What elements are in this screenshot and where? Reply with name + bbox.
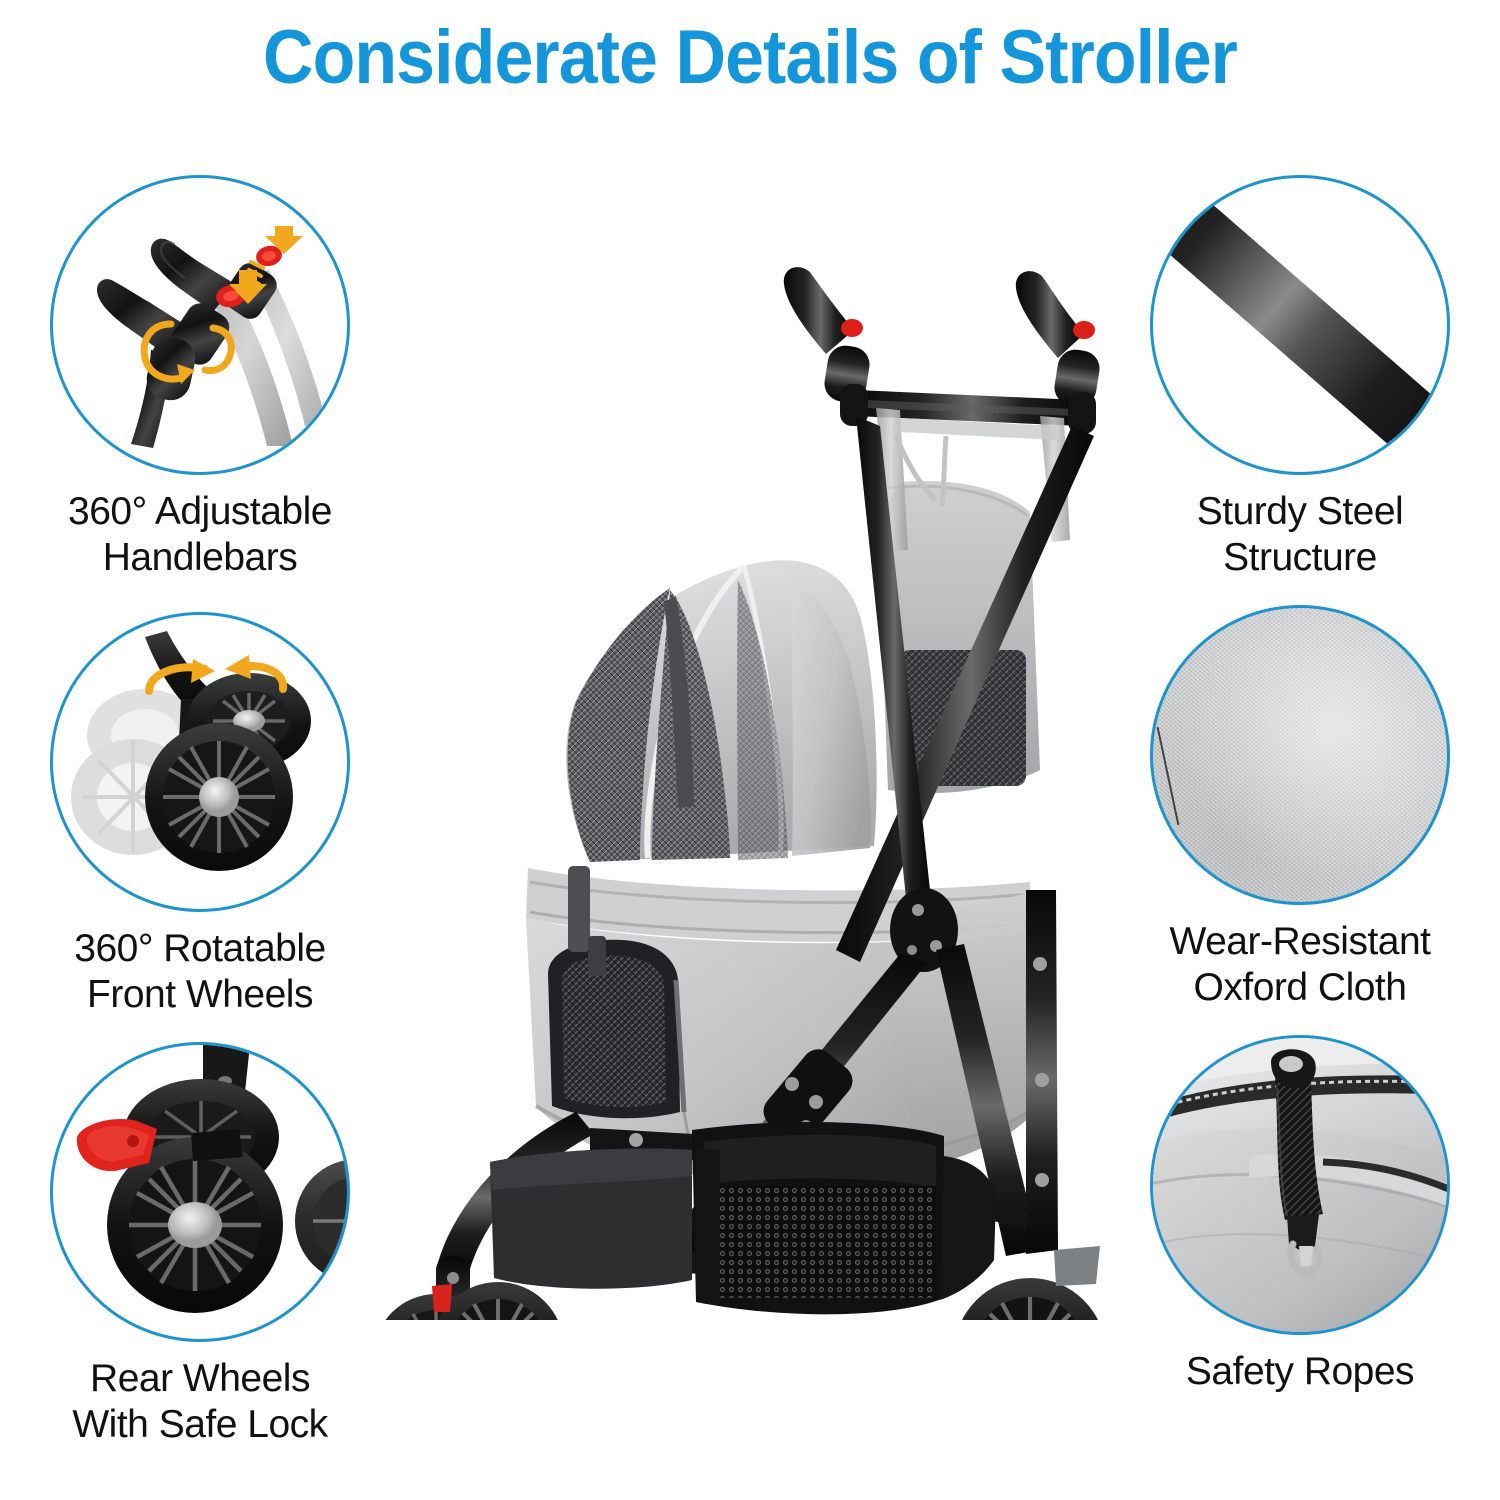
basket-mesh-panel bbox=[706, 1186, 936, 1298]
caption-line-2: Handlebars bbox=[30, 535, 370, 581]
caption-line-2: Structure bbox=[1130, 535, 1470, 581]
feature-caption: 360° Rotatable Front Wheels bbox=[30, 926, 370, 1018]
handle-release-right bbox=[1073, 321, 1095, 339]
wheel-brake-icon bbox=[53, 1045, 350, 1342]
handle-release-left bbox=[841, 319, 863, 337]
feature-image-circle bbox=[50, 1042, 350, 1342]
feature-image-circle bbox=[50, 175, 350, 475]
feature-rotatable-front-wheels: 360° Rotatable Front Wheels bbox=[30, 612, 370, 1018]
feature-caption: Rear Wheels With Safe Lock bbox=[30, 1356, 370, 1448]
feature-safety-ropes: Safety Ropes bbox=[1130, 1035, 1470, 1395]
caption-line-1: Wear-Resistant bbox=[1130, 919, 1470, 965]
caption-line-1: 360° Rotatable bbox=[30, 926, 370, 972]
safety-strap-icon bbox=[1153, 1038, 1450, 1335]
side-mesh-door bbox=[562, 956, 666, 1107]
swivel-wheel-icon bbox=[53, 615, 350, 912]
feature-rear-wheels-safe-lock: Rear Wheels With Safe Lock bbox=[30, 1042, 370, 1448]
feature-image-circle bbox=[1150, 1035, 1450, 1335]
caption-line-1: 360° Adjustable bbox=[30, 489, 370, 535]
feature-image-circle bbox=[50, 612, 350, 912]
carry-strap-left bbox=[568, 866, 590, 952]
stroller-illustration bbox=[340, 250, 1160, 1320]
feature-caption: Sturdy Steel Structure bbox=[1130, 489, 1470, 581]
feature-caption: Safety Ropes bbox=[1130, 1349, 1470, 1395]
frame-right-leg bbox=[1026, 890, 1058, 1254]
caption-line-2: With Safe Lock bbox=[30, 1402, 370, 1448]
caption-line-2: Front Wheels bbox=[30, 972, 370, 1018]
feature-sturdy-steel-structure: Sturdy Steel Structure bbox=[1130, 175, 1470, 581]
feature-caption: Wear-Resistant Oxford Cloth bbox=[1130, 919, 1470, 1011]
product-image-stroller bbox=[340, 250, 1160, 1320]
feature-caption: 360° Adjustable Handlebars bbox=[30, 489, 370, 581]
feature-image-circle bbox=[1150, 605, 1450, 905]
handlebar-left bbox=[784, 267, 854, 354]
handlebar-rotation-icon bbox=[53, 178, 350, 475]
caption-line-2: Oxford Cloth bbox=[1130, 965, 1470, 1011]
feature-image-circle bbox=[1150, 175, 1450, 475]
caption-line-1: Sturdy Steel bbox=[1130, 489, 1470, 535]
caption-line-1: Rear Wheels bbox=[30, 1356, 370, 1402]
handlebar-right bbox=[1016, 271, 1084, 358]
fabric-swatch-icon bbox=[1153, 608, 1447, 902]
steel-tube-icon bbox=[1153, 178, 1450, 475]
caption-line-1: Safety Ropes bbox=[1130, 1349, 1470, 1395]
feature-adjustable-handlebars: 360° Adjustable Handlebars bbox=[30, 175, 370, 581]
page-title: Considerate Details of Stroller bbox=[60, 14, 1440, 101]
feature-wear-resistant-oxford-cloth: Wear-Resistant Oxford Cloth bbox=[1130, 605, 1470, 1011]
